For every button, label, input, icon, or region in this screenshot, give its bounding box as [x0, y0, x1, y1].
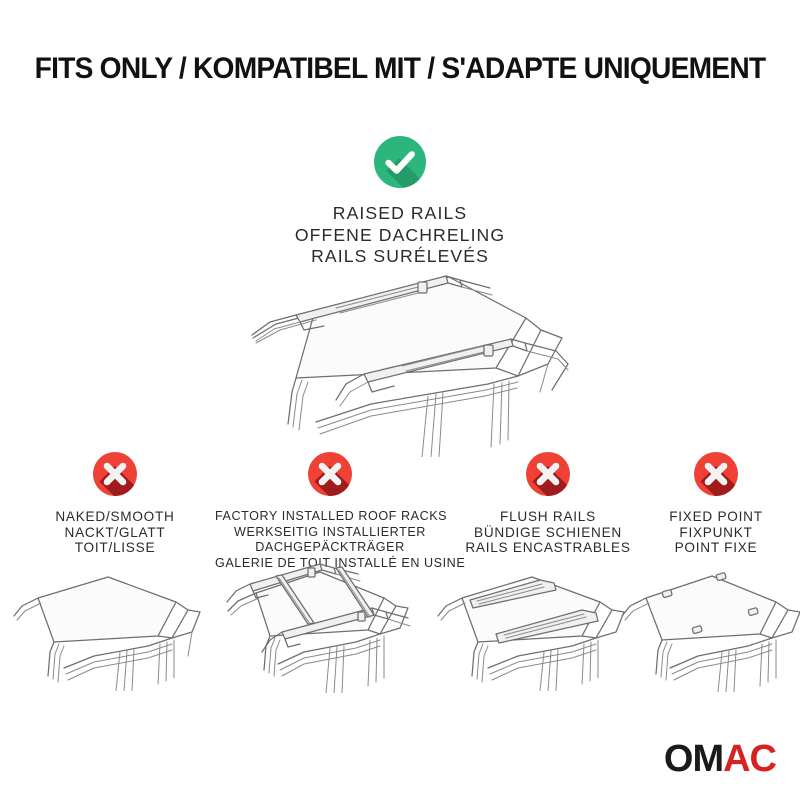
omac-logo: OMAC: [664, 740, 776, 778]
fixed-point-roof-illustration: [614, 552, 800, 697]
compatible-label-de: OFFENE DACHRELING: [0, 225, 800, 247]
logo-text-red: AC: [723, 738, 776, 780]
label-line-en: FLUSH RAILS: [448, 509, 648, 525]
label-line-de: NACKT/GLATT: [15, 525, 215, 541]
factory-crossbars-roof-illustration: [212, 548, 427, 698]
label-line-fr: TOIT/LISSE: [15, 540, 215, 556]
incompatible-item-flush-rails: FLUSH RAILS BÜNDIGE SCHIENEN RAILS ENCAS…: [448, 452, 648, 556]
label-line-de-1: WERKSEITIG INSTALLIERTER: [215, 525, 445, 541]
label-line-en: NAKED/SMOOTH: [15, 509, 215, 525]
incompatible-item-naked-smooth: NAKED/SMOOTH NACKT/GLATT TOIT/LISSE: [15, 452, 215, 556]
compatible-label-fr: RAILS SURÉLEVÉS: [0, 246, 800, 268]
x-circle-icon: [694, 452, 738, 496]
incompatible-labels: NAKED/SMOOTH NACKT/GLATT TOIT/LISSE: [15, 509, 215, 556]
bare-roof-illustration: [8, 556, 208, 696]
compatible-labels: RAISED RAILS OFFENE DACHRELING RAILS SUR…: [0, 203, 800, 268]
check-circle-icon: [374, 136, 426, 188]
fitment-compatibility-graphic: FITS ONLY / KOMPATIBEL MIT / S'ADAPTE UN…: [0, 0, 800, 800]
x-circle-icon: [308, 452, 352, 496]
incompatible-labels: FIXED POINT FIXPUNKT POINT FIXE: [640, 509, 792, 556]
flush-rails-roof-illustration: [432, 556, 632, 696]
logo-text-dark: OM: [664, 738, 723, 780]
x-circle-icon: [526, 452, 570, 496]
label-line-en: FACTORY INSTALLED ROOF RACKS: [215, 509, 445, 525]
label-line-en: FIXED POINT: [640, 509, 792, 525]
compatible-label-en: RAISED RAILS: [0, 203, 800, 225]
incompatible-item-fixed-point: FIXED POINT FIXPUNKT POINT FIXE: [640, 452, 792, 556]
incompatible-labels: FLUSH RAILS BÜNDIGE SCHIENEN RAILS ENCAS…: [448, 509, 648, 556]
label-line-de: FIXPUNKT: [640, 525, 792, 541]
compatible-section: RAISED RAILS OFFENE DACHRELING RAILS SUR…: [0, 136, 800, 268]
label-line-de: BÜNDIGE SCHIENEN: [448, 525, 648, 541]
x-circle-icon: [93, 452, 137, 496]
page-title: FITS ONLY / KOMPATIBEL MIT / S'ADAPTE UN…: [18, 52, 782, 86]
raised-rails-illustration: [196, 272, 626, 457]
